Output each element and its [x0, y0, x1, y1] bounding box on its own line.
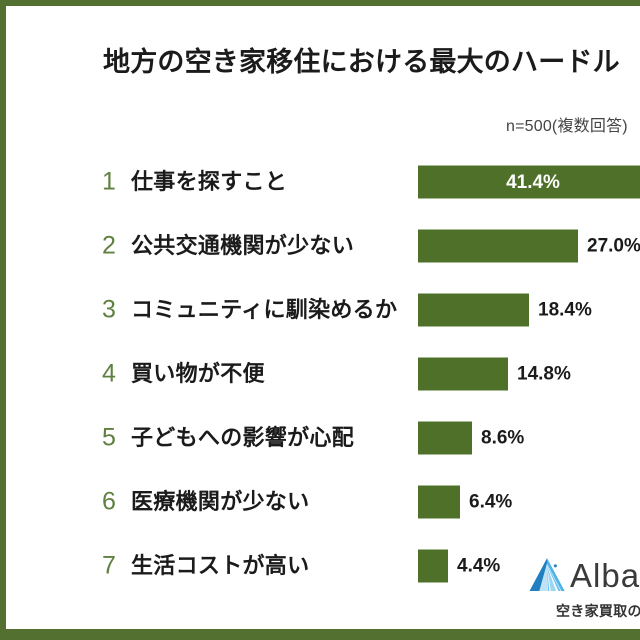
value-label: 18.4%	[538, 301, 592, 320]
value-label: 14.8%	[517, 365, 571, 384]
mountain-triangle-icon	[528, 556, 566, 594]
category-label: 仕事を探すこと	[131, 171, 287, 193]
bar-area: 6.4%	[418, 486, 512, 519]
category-label: 公共交通機関が少ない	[131, 235, 354, 257]
value-bar	[418, 358, 508, 391]
value-label: 8.6%	[481, 429, 524, 448]
bar-wrapper: 41.4%	[418, 166, 640, 199]
ranking-row: 5子どもへの影響が心配8.6%	[0, 406, 640, 470]
value-label: 4.4%	[457, 557, 500, 576]
ranking-row: 2公共交通機関が少ない27.0%	[0, 214, 640, 278]
bar-wrapper	[418, 422, 472, 455]
rank-number: 2	[97, 234, 121, 259]
value-bar	[418, 486, 460, 519]
bar-area: 27.0%	[418, 230, 640, 263]
bar-area: 41.4%	[418, 166, 640, 199]
rank-number: 3	[97, 298, 121, 323]
category-label: コミュニティに馴染めるか	[131, 299, 397, 321]
rank-number: 1	[97, 170, 121, 195]
rank-number: 7	[97, 554, 121, 579]
bar-area: 18.4%	[418, 294, 592, 327]
ranking-row: 6医療機関が少ない6.4%	[0, 470, 640, 534]
category-label: 買い物が不便	[131, 363, 265, 385]
bar-area: 4.4%	[418, 550, 500, 583]
value-bar	[418, 230, 578, 263]
rank-number: 5	[97, 426, 121, 451]
page-title: 地方の空き家移住における最大のハードル	[103, 46, 640, 78]
ranking-list: 1仕事を探すこと41.4%2公共交通機関が少ない27.0%3コミュニティに馴染め…	[0, 150, 640, 598]
value-label: 27.0%	[587, 237, 640, 256]
bar-wrapper	[418, 230, 578, 263]
bar-wrapper	[418, 358, 508, 391]
value-label: 6.4%	[469, 493, 512, 512]
bar-area: 8.6%	[418, 422, 524, 455]
value-bar	[418, 550, 448, 583]
bar-wrapper	[418, 294, 529, 327]
category-label: 生活コストが高い	[131, 555, 309, 577]
sample-size-note: n=500(複数回答)	[506, 112, 640, 136]
rank-number: 6	[97, 490, 121, 515]
logo-tagline: 空き家買取のアルバリンク	[556, 601, 640, 621]
ranking-row: 1仕事を探すこと41.4%	[0, 150, 640, 214]
logo-wordmark: Albalink	[570, 559, 640, 592]
value-bar	[418, 422, 472, 455]
bar-wrapper	[418, 550, 448, 583]
category-label: 医療機関が少ない	[131, 491, 309, 513]
bar-area: 14.8%	[418, 358, 571, 391]
ranking-row: 4買い物が不便14.8%	[0, 342, 640, 406]
brand-logo[interactable]: Albalink	[528, 556, 640, 594]
frame-border-bottom	[0, 629, 640, 640]
value-bar	[418, 294, 529, 327]
ranking-row: 3コミュニティに馴染めるか18.4%	[0, 278, 640, 342]
bar-wrapper	[418, 486, 460, 519]
value-label: 41.4%	[418, 173, 640, 192]
infographic-canvas: 地方の空き家移住における最大のハードル n=500(複数回答) 1仕事を探すこと…	[0, 0, 640, 640]
category-label: 子どもへの影響が心配	[131, 427, 354, 449]
frame-border-top	[0, 0, 640, 6]
rank-number: 4	[97, 362, 121, 387]
